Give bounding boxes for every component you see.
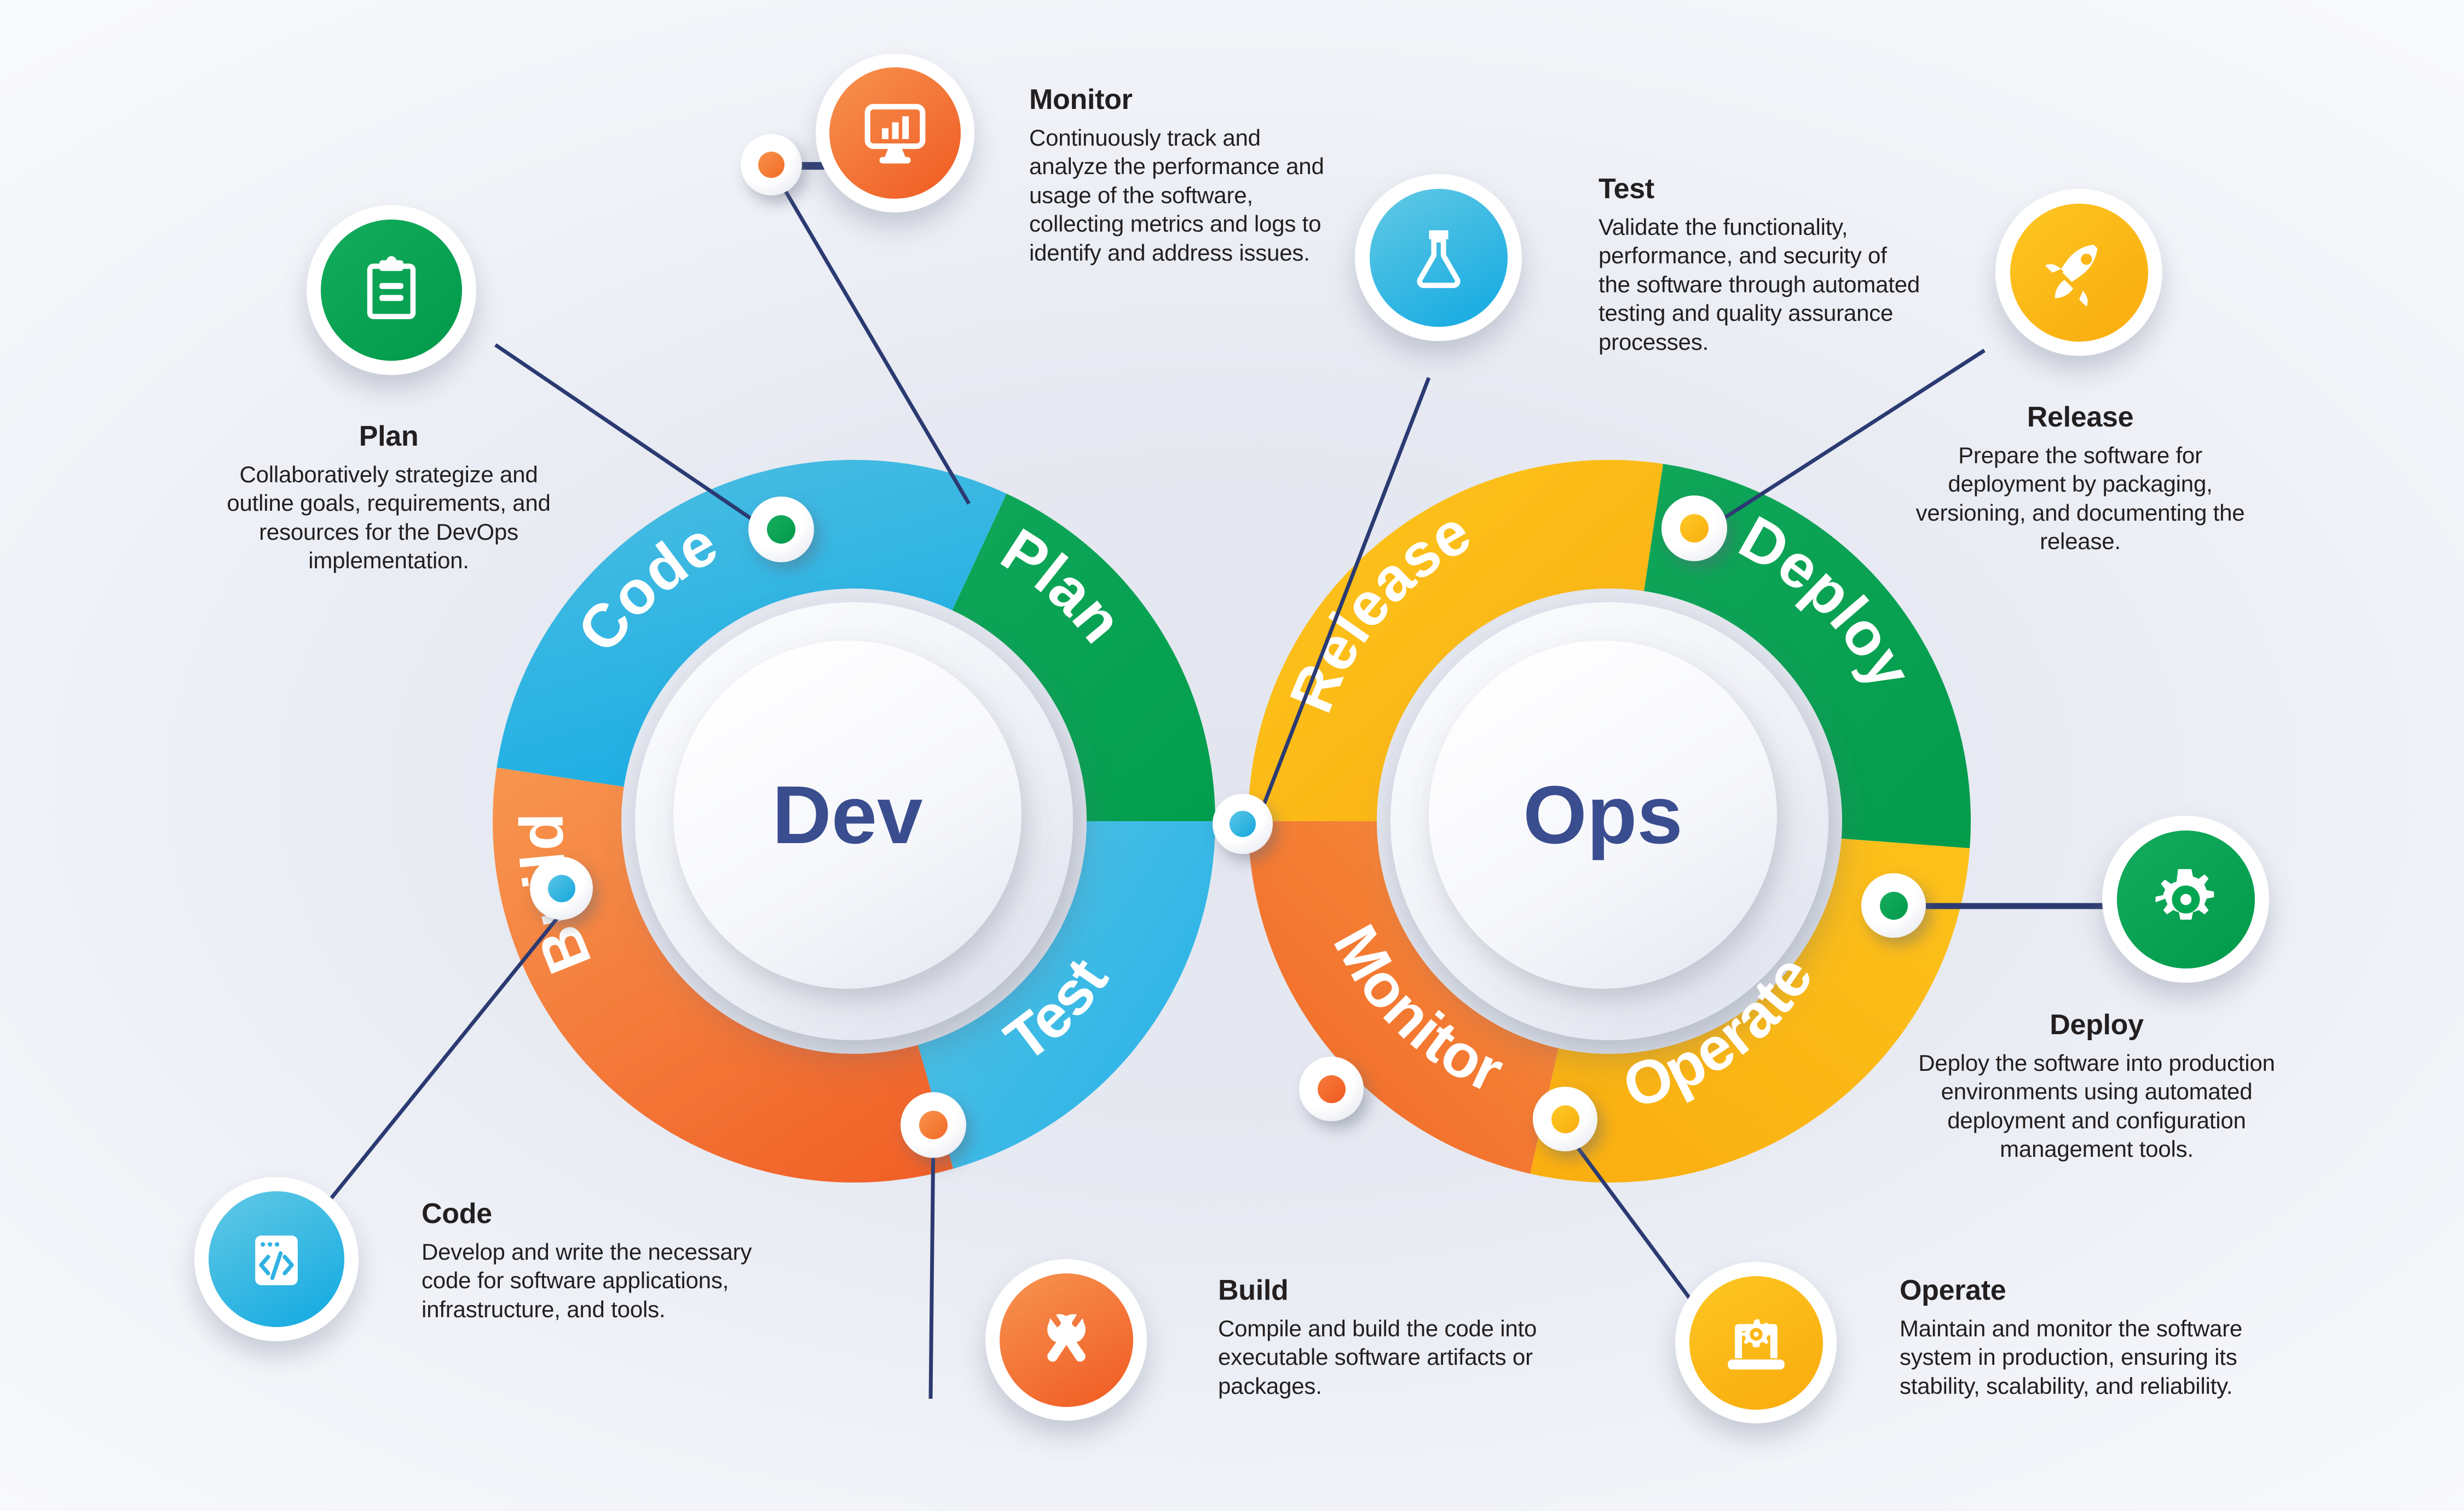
info-plan: Plan Collaboratively strategize and outl… (208, 422, 569, 575)
pin-plan[interactable] (748, 497, 814, 562)
badge-plan[interactable] (307, 205, 476, 375)
build-desc: Compile and build the code into executab… (1218, 1314, 1557, 1401)
test-disc (1370, 189, 1508, 327)
code-desc: Develop and write the necessary code for… (422, 1238, 794, 1324)
badge-code[interactable] (194, 1177, 359, 1341)
plan-desc: Collaboratively strategize and outline g… (208, 460, 569, 575)
monitor-desc: Continuously track and analyze the perfo… (1029, 124, 1341, 268)
deploy-disc (2117, 831, 2255, 968)
wrench-screwdriver-icon (1029, 1303, 1104, 1377)
plan-title: Plan (208, 422, 569, 452)
plan-disc (321, 220, 462, 361)
dev-core-label: Dev (772, 769, 922, 861)
pin-monitor-small[interactable] (741, 134, 802, 195)
pin-center[interactable] (1213, 794, 1273, 854)
info-test: Test Validate the functionality, perform… (1599, 174, 1921, 356)
badge-build[interactable] (985, 1259, 1147, 1421)
operate-desc: Maintain and monitor the software system… (1900, 1314, 2283, 1401)
deploy-title: Deploy (1905, 1010, 2288, 1040)
build-disc (1000, 1273, 1133, 1407)
clipboard-icon (353, 252, 430, 328)
monitor-chart-icon (857, 95, 933, 171)
pin-build[interactable] (901, 1092, 966, 1158)
code-title: Code (422, 1199, 794, 1229)
operate-title: Operate (1900, 1276, 2283, 1306)
flask-icon (1400, 220, 1477, 296)
info-deploy: Deploy Deploy the software into producti… (1905, 1010, 2288, 1164)
devops-infographic: Dev Ops Plan Code Build Test Release Dep… (0, 0, 2464, 1511)
info-build: Build Compile and build the code into ex… (1218, 1276, 1557, 1400)
monitor-title: Monitor (1029, 85, 1341, 115)
badge-test[interactable] (1355, 174, 1522, 341)
operate-disc (1689, 1276, 1823, 1410)
monitor-disc (829, 67, 961, 199)
badge-operate[interactable] (1675, 1262, 1837, 1423)
release-disc (2010, 204, 2148, 342)
pin-operate[interactable] (1533, 1087, 1597, 1151)
info-operate: Operate Maintain and monitor the softwar… (1900, 1276, 2283, 1400)
info-code: Code Develop and write the necessary cod… (422, 1199, 794, 1324)
code-window-icon (239, 1221, 314, 1297)
badge-monitor[interactable] (816, 54, 974, 212)
rocket-icon (2040, 234, 2118, 312)
deploy-desc: Deploy the software into production envi… (1905, 1049, 2288, 1164)
badge-deploy[interactable] (2102, 816, 2269, 983)
gear-icon (2147, 861, 2225, 938)
build-title: Build (1218, 1276, 1557, 1306)
pin-release[interactable] (1661, 495, 1727, 561)
laptop-gear-icon (1718, 1305, 1794, 1381)
connector-build (931, 1136, 933, 1399)
release-title: Release (1905, 402, 2255, 432)
pin-code[interactable] (530, 857, 593, 920)
info-release: Release Prepare the software for deploym… (1905, 402, 2255, 556)
pin-monitor-loop[interactable] (1299, 1057, 1364, 1121)
info-monitor: Monitor Continuously track and analyze t… (1029, 85, 1341, 267)
test-desc: Validate the functionality, performance,… (1599, 213, 1921, 357)
test-title: Test (1599, 174, 1921, 204)
code-disc (209, 1191, 344, 1327)
release-desc: Prepare the software for deployment by p… (1905, 441, 2255, 556)
dev-core: Dev (635, 602, 1073, 1040)
pin-deploy[interactable] (1861, 873, 1926, 938)
badge-release[interactable] (1995, 189, 2162, 356)
ops-core-label: Ops (1523, 769, 1683, 861)
